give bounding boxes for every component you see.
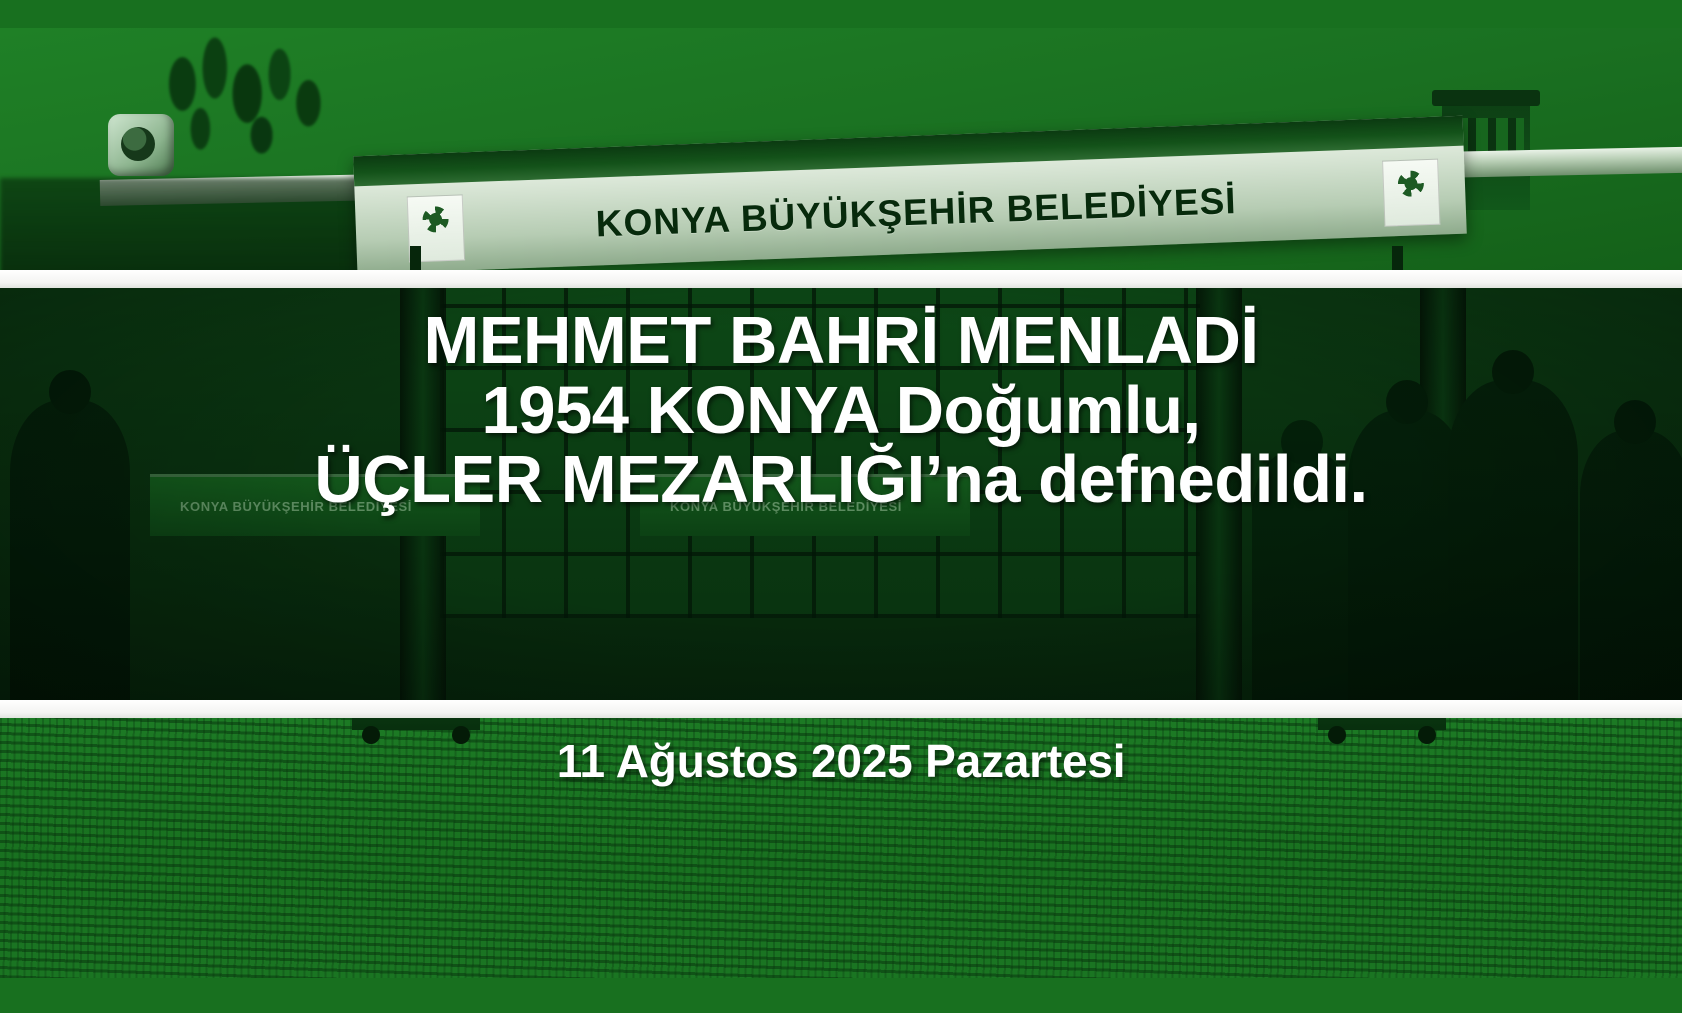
green-band-bottom <box>0 978 1682 1013</box>
loudspeaker-icon <box>108 114 174 176</box>
divider-upper <box>0 270 1682 288</box>
exterior-scene: KONYA BÜYÜKŞEHİR BELEDİYESİ <box>0 28 1682 270</box>
coffin-stand-leg-left <box>410 246 421 270</box>
divider-lower <box>0 700 1682 718</box>
coffin-cart-right <box>1318 718 1446 730</box>
announcement-date: 11 Ağustos 2025 Pazartesi <box>0 734 1682 788</box>
funeral-announcement-poster: KONYA BÜYÜKŞEHİR BELEDİYESİ KONYA BÜYÜKŞ… <box>0 0 1682 1013</box>
headline-line-burial: ÜÇLER MEZARLIĞI’na defnedildi. <box>18 445 1664 515</box>
headline-line-birth: 1954 KONYA Doğumlu, <box>18 376 1664 446</box>
municipality-emblem-right <box>1382 159 1440 227</box>
photo-band-coffin-exterior: KONYA BÜYÜKŞEHİR BELEDİYESİ <box>0 28 1682 270</box>
foreground-shadow-left <box>0 178 360 270</box>
headline-line-name: MEHMET BAHRİ MENLADİ <box>18 306 1664 376</box>
announcement-headline: MEHMET BAHRİ MENLADİ 1954 KONYA Doğumlu,… <box>0 306 1682 515</box>
coffin-banner-text: KONYA BÜYÜKŞEHİR BELEDİYESİ <box>595 180 1237 245</box>
green-band-top <box>0 0 1682 28</box>
coffin-cart-left <box>352 718 480 730</box>
coffin-stand-leg-right <box>1392 246 1403 270</box>
shrub-decoration <box>150 28 330 180</box>
